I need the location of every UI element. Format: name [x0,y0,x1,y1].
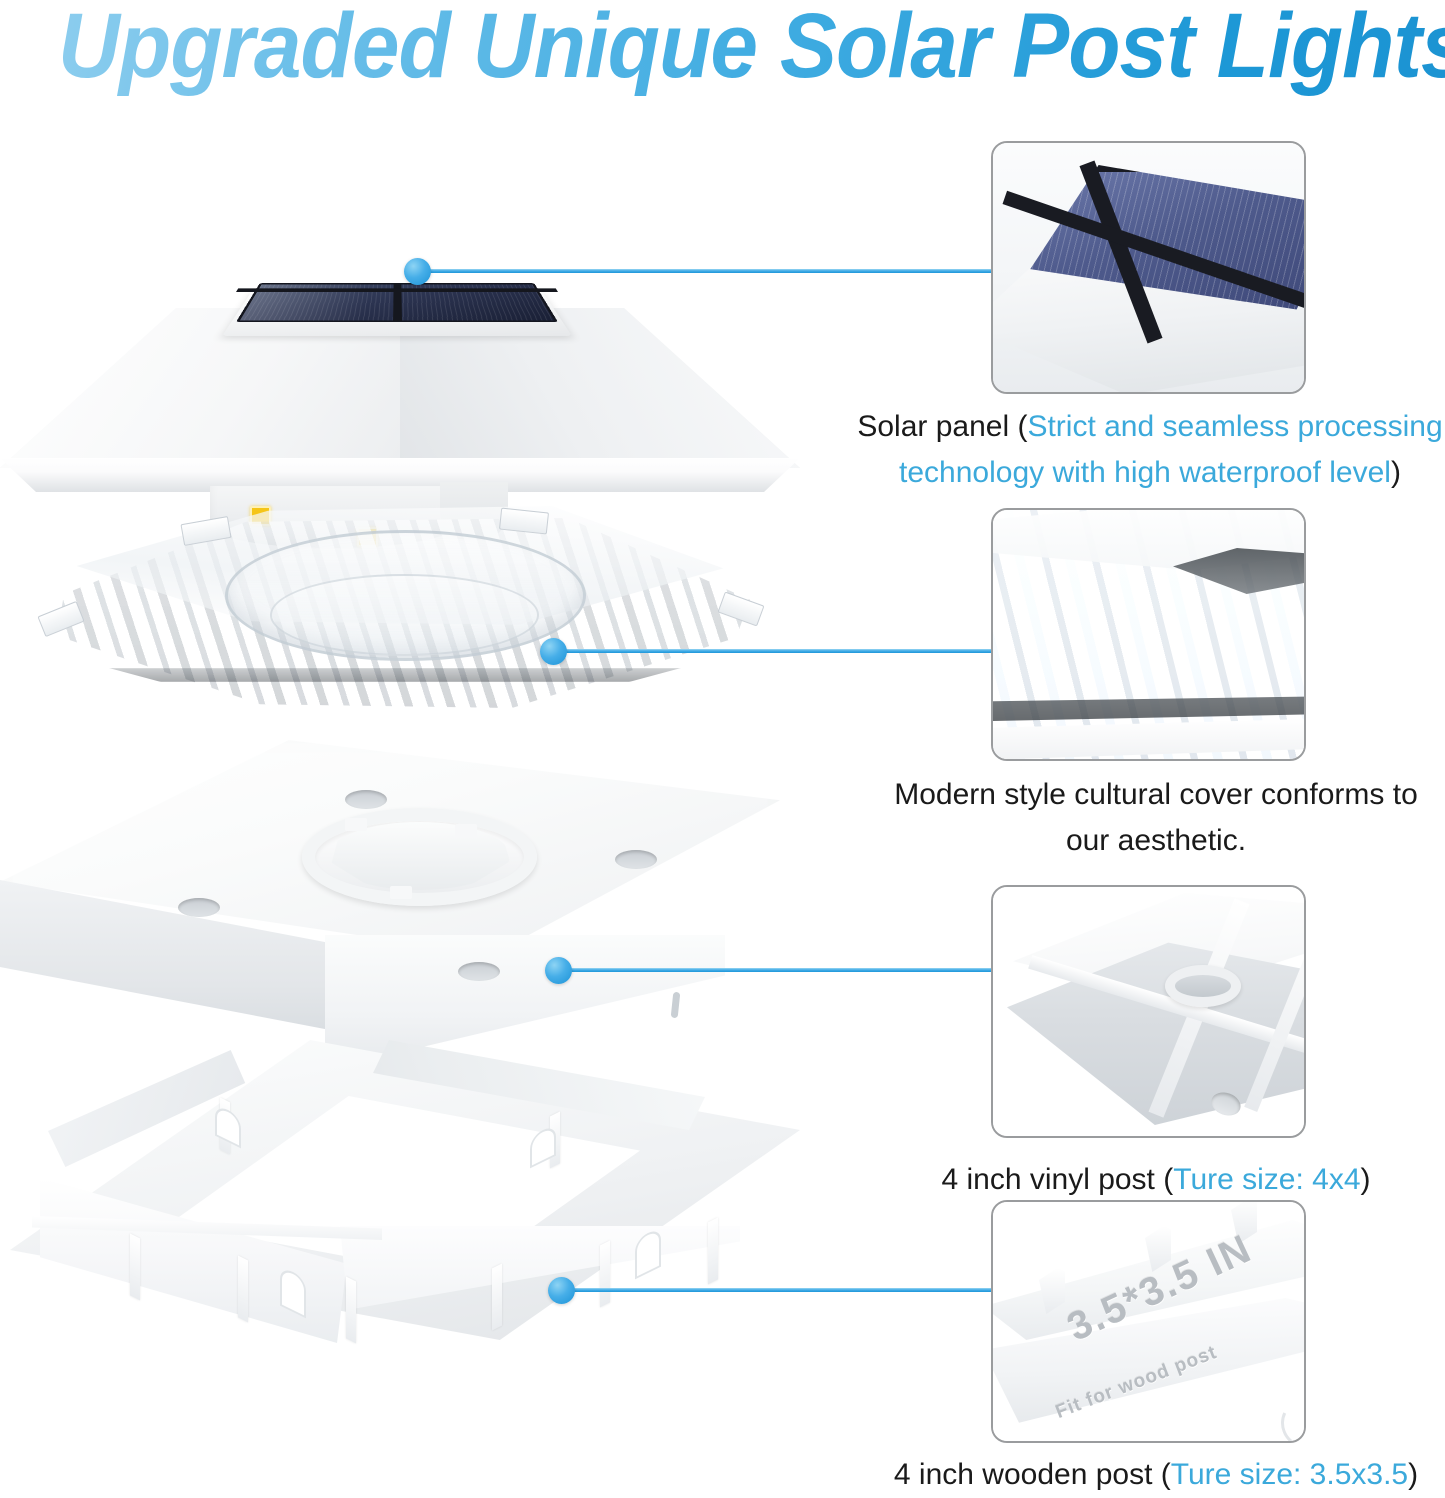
base-plate-screw-hole [458,962,500,981]
callout-line [417,269,1004,273]
callout-line [553,649,1004,653]
callout-line [558,968,1004,972]
title-banner: Upgraded Unique Solar Post Lights [0,0,1445,110]
base-plate-side-slot [671,992,681,1019]
callout-dot [545,957,572,984]
detail-inset-base-underside [991,885,1306,1138]
adapter-rib [708,1218,718,1285]
callout-dot [548,1277,575,1304]
caption-solar-panel: Solar panel (Strict and seamless process… [855,404,1445,496]
product-part-base-plate [0,740,780,1070]
solar-panel-divider-horizontal [236,288,558,292]
base-plate-ring-notch [455,824,477,837]
caption-vinyl-post: 4 inch vinyl post (Ture size: 4x4) [876,1157,1436,1203]
callout-leader-vinyl-post [545,957,1004,985]
caption-prefix: 4 inch wooden post ( [894,1458,1171,1491]
product-part-crystal-cover [30,500,770,730]
detail-inset-solar-panel [991,141,1306,394]
detail-inset-wooden-post-adapter: 3.5*3.5 IN Fit for wood post [991,1200,1306,1443]
caption-prefix: Solar panel ( [857,410,1027,443]
caption-suffix: ) [1361,1163,1371,1196]
crystal-base-edge [70,668,720,682]
caption-wooden-post: 4 inch wooden post (Ture size: 3.5x3.5) [876,1452,1436,1498]
adapter-rib [130,1234,140,1301]
caption-prefix: 4 inch vinyl post ( [941,1163,1173,1196]
callout-leader-wooden-post [548,1277,1004,1305]
detail-inset-crystal-cover [991,508,1306,761]
page-title: Upgraded Unique Solar Post Lights [58,0,1445,99]
base-plate-ring-notch [345,818,367,831]
caption-highlight: Ture size: 3.5x3.5 [1171,1458,1408,1491]
callout-dot [540,638,567,665]
product-part-post-adapter-frame [10,1040,800,1410]
base-plate-screw-hole [615,850,657,869]
adapter-rib [492,1264,502,1331]
callout-dot [404,258,431,285]
caption-prefix: Modern style cultural cover conforms to … [894,778,1418,857]
caption-cultural-cover: Modern style cultural cover conforms to … [876,772,1436,864]
base-plate-ring-notch [390,886,412,899]
callout-leader-solar-panel [404,258,1004,286]
caption-highlight: Ture size: 4x4 [1173,1163,1360,1196]
adapter-rib [238,1256,248,1323]
adapter-rib [346,1277,356,1344]
inset-underside-screw-boss [1165,965,1241,1007]
base-plate-screw-hole [178,898,220,917]
crystal-inner-ring-secondary [270,574,539,656]
caption-suffix: ) [1391,456,1401,489]
callout-line [561,1288,1004,1292]
caption-suffix: ) [1408,1458,1418,1491]
callout-leader-cultural-cover [540,638,1004,666]
base-plate-screw-hole [345,790,387,809]
